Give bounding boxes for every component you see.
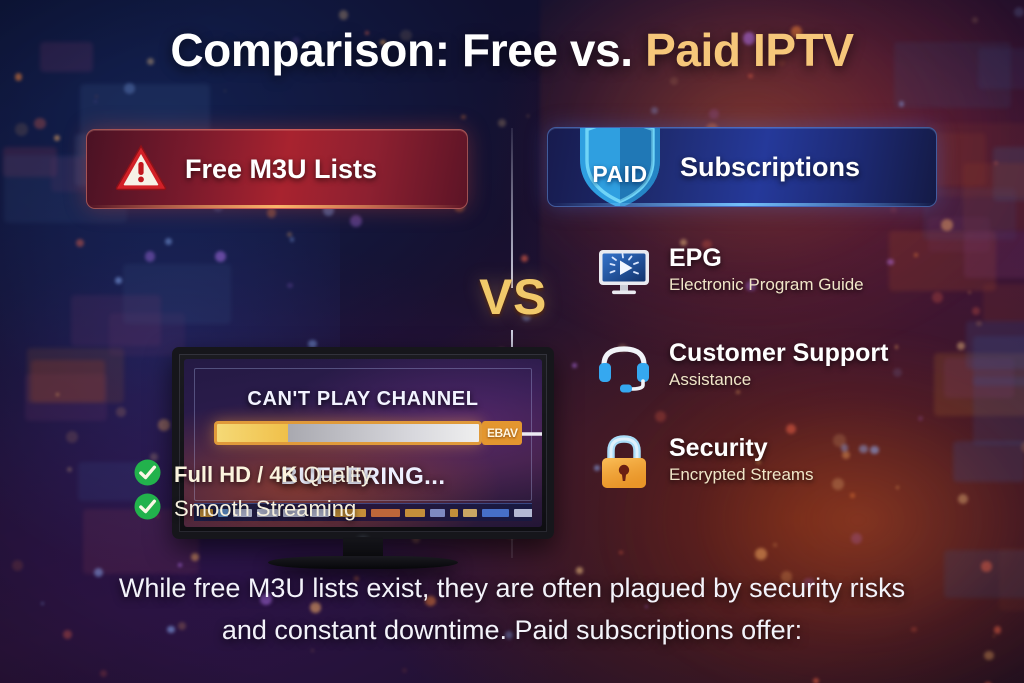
feature-item-support: Customer Support Assistance: [596, 331, 888, 401]
monitor-play-icon: [596, 243, 652, 299]
bullet-label: Smooth Streaming: [174, 496, 356, 522]
tv-progress-arrow-icon: [522, 427, 542, 439]
footer-caption-line-1: While free M3U lists exist, they are oft…: [0, 568, 1024, 610]
green-check-icon: [134, 459, 161, 491]
bullet-label-rest: Quality: [297, 462, 372, 487]
free-panel-bullets: Full HD / 4K Quality Smooth Streaming: [134, 458, 372, 526]
feature-title: Customer Support: [669, 340, 888, 367]
feature-title: Security: [669, 435, 814, 462]
bullet-label-bold: Full HD / 4K: [174, 462, 297, 487]
bullet-item: Full HD / 4K Quality: [134, 458, 372, 492]
paid-panel-features: EPG Electronic Program Guide Customer Su…: [596, 236, 888, 521]
feature-item-epg: EPG Electronic Program Guide: [596, 236, 888, 306]
free-panel: Free M3U Lists CAN'T PLAY CHANNEL EBAV: [86, 129, 468, 209]
green-check-icon: [134, 493, 161, 525]
footer-caption-line-2: and constant downtime. Paid subscription…: [0, 610, 1024, 652]
free-panel-title: Free M3U Lists: [185, 154, 377, 185]
infographic-canvas: Comparison: Free vs. Paid IPTV VS Free M…: [0, 0, 1024, 683]
feature-title: EPG: [669, 245, 864, 272]
tv-progress-badge: EBAV: [482, 421, 522, 445]
shield-icon: PAID: [574, 127, 666, 207]
padlock-icon: [596, 433, 652, 489]
feature-text-block: Customer Support Assistance: [669, 340, 888, 392]
tv-progress-fill: [217, 424, 288, 442]
bullet-item: Smooth Streaming: [134, 492, 372, 526]
feature-subtitle: Assistance: [669, 369, 888, 392]
column-divider-top: [511, 128, 513, 288]
tv-strip-chip: [450, 509, 459, 517]
warning-triangle-icon: [115, 143, 167, 196]
footer-caption: While free M3U lists exist, they are oft…: [0, 568, 1024, 652]
tv-strip-chip: [405, 509, 425, 517]
tv-progress-bar: [214, 421, 482, 445]
feature-text-block: EPG Electronic Program Guide: [669, 245, 864, 297]
page-title-main: Comparison: Free vs.: [170, 24, 632, 76]
shield-label: PAID: [574, 127, 666, 207]
tv-strip-chip: [514, 509, 532, 517]
paid-panel-title: Subscriptions: [680, 152, 860, 183]
page-title-accent: Paid IPTV: [645, 24, 854, 76]
paid-panel-header: PAID Subscriptions: [547, 127, 937, 207]
versus-badge: VS: [455, 268, 571, 326]
tv-strip-chip: [371, 509, 401, 517]
headset-icon: [596, 338, 652, 394]
tv-error-message: CAN'T PLAY CHANNEL: [184, 388, 542, 411]
tv-strip-chip: [430, 509, 444, 517]
feature-subtitle: Electronic Program Guide: [669, 274, 864, 297]
feature-item-security: Security Encrypted Streams: [596, 426, 888, 496]
paid-panel: PAID Subscriptions: [547, 127, 937, 207]
tv-strip-chip: [482, 509, 509, 517]
page-title: Comparison: Free vs. Paid IPTV: [0, 23, 1024, 77]
feature-subtitle: Encrypted Streams: [669, 464, 814, 487]
free-panel-header: Free M3U Lists: [86, 129, 468, 209]
feature-text-block: Security Encrypted Streams: [669, 435, 814, 487]
tv-strip-chip: [463, 509, 476, 517]
bullet-label: Full HD / 4K Quality: [174, 462, 372, 488]
